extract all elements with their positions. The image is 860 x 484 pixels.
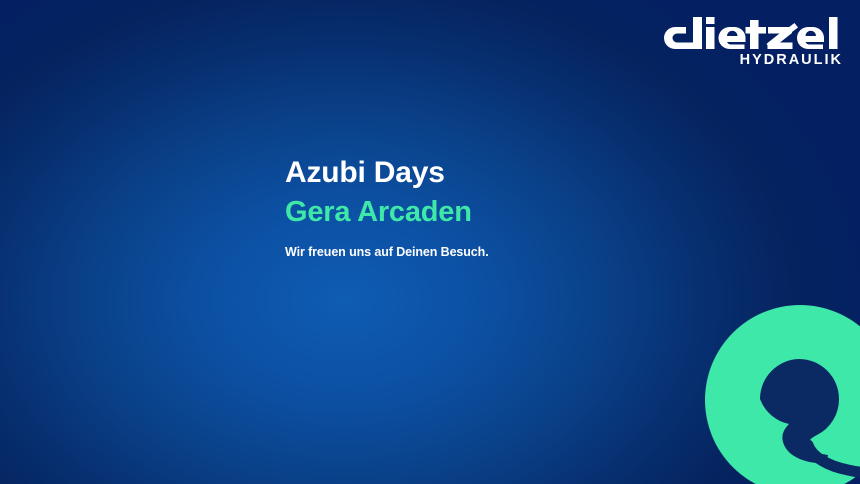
slide-tagline: Wir freuen uns auf Deinen Besuch. (285, 245, 489, 260)
slide-subtitle: Gera Arcaden (285, 195, 489, 229)
brand-logo: HYDRAULIK (664, 16, 844, 68)
q-monogram-icon (700, 298, 860, 484)
slide-title: Azubi Days (285, 155, 489, 190)
promo-slide: HYDRAULIK Azubi Days Gera Arcaden Wir fr… (0, 0, 860, 484)
logo-subtitle: HYDRAULIK (664, 53, 844, 68)
dietzel-wordmark-icon (664, 16, 844, 50)
headline-block: Azubi Days Gera Arcaden Wir freuen uns a… (285, 155, 489, 260)
